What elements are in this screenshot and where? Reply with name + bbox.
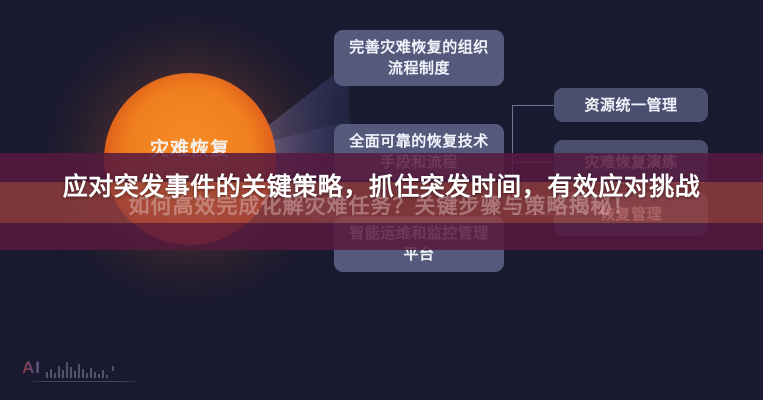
- connector-resource-horizontal: [512, 105, 554, 106]
- watermark-logo: AI · · · · · · · ·: [22, 356, 152, 388]
- watermark-rule: [26, 381, 142, 382]
- node-process-label: 完善灾难恢复的组织流程制度: [344, 37, 494, 79]
- watermark-subtitle: · · · · · · · ·: [44, 373, 102, 379]
- node-resource[interactable]: 资源统一管理: [554, 88, 708, 122]
- screenshot-canvas: 灾难恢复 完善灾难恢复的组织流程制度 全面可靠的恢复技术手段和流程 智能运维和监…: [0, 0, 763, 400]
- watermark-ai-text: AI: [22, 358, 41, 378]
- page-title: 应对突发事件的关键策略，抓住突发时间，有效应对挑战: [48, 170, 715, 204]
- node-process[interactable]: 完善灾难恢复的组织流程制度: [334, 30, 504, 86]
- node-resource-label: 资源统一管理: [584, 95, 677, 116]
- overlay-band-bottom: [0, 223, 763, 250]
